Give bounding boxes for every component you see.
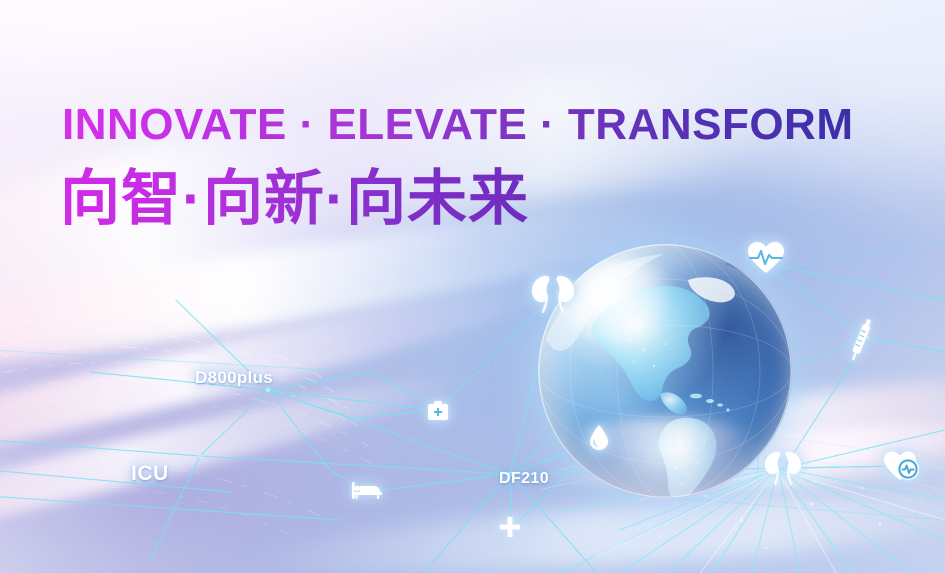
kidneys-icon-2 [763, 450, 803, 486]
medical-cross-icon [500, 517, 520, 537]
heart-pulse-icon [747, 241, 785, 275]
tag-d800plus: D800plus [195, 368, 273, 388]
hero-banner: INNOVATE · ELEVATE · TRANSFORM 向智·向新·向未来… [0, 0, 945, 573]
water-drop-icon [589, 424, 609, 450]
hospital-bed-icon [352, 481, 382, 500]
kidneys-icon [528, 272, 578, 316]
medical-bag-icon [427, 400, 449, 422]
tag-df210: DF210 [499, 470, 549, 488]
page-subtitle: 向智·向新·向未来 [60, 165, 529, 232]
tag-icu: ICU [131, 462, 169, 486]
syringe-icon [844, 316, 877, 364]
heart-monitor-icon [883, 450, 921, 482]
page-title: INNOVATE · ELEVATE · TRANSFORM [62, 103, 854, 147]
globe-bottom-glow [548, 417, 782, 498]
